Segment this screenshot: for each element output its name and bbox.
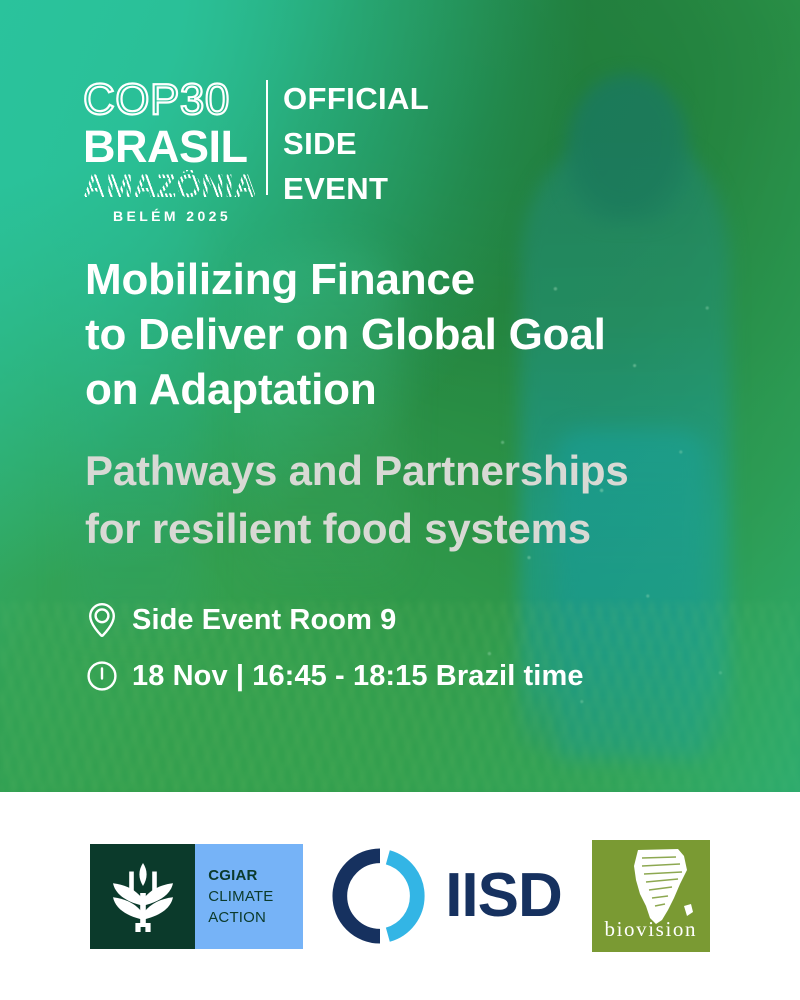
hero-image: COP30 BRASIL AMAZÔNIA BELÉM 2025 OFFICIA… xyxy=(0,0,800,792)
cop30-logo-line-amazonia: AMAZÔNIA xyxy=(83,170,255,203)
partner-logos: CGIAR CLIMATE ACTION IISD xyxy=(90,840,710,952)
event-subtitle-line-2: for resilient food systems xyxy=(85,500,745,558)
event-location-text: Side Event Room 9 xyxy=(132,604,396,637)
badge-line-event: EVENT xyxy=(283,166,429,211)
cgiar-word-line-2: CLIMATE xyxy=(208,886,303,907)
cop30-logo-line-belem: BELÉM 2025 xyxy=(83,208,255,224)
event-title: Mobilizing Finance to Deliver on Global … xyxy=(85,252,725,417)
event-subtitle-line-1: Pathways and Partnerships xyxy=(85,442,745,500)
partner-logo-bar: CGIAR CLIMATE ACTION IISD xyxy=(0,792,800,1000)
event-details: Side Event Room 9 18 Nov | 16:45 - 18:15… xyxy=(85,596,584,708)
event-title-line-1: Mobilizing Finance xyxy=(85,252,725,307)
map-pin-icon xyxy=(85,601,119,639)
cop30-logo-line-brasil: BRASIL xyxy=(83,124,255,169)
event-time-row: 18 Nov | 16:45 - 18:15 Brazil time xyxy=(85,652,584,700)
wheat-emblem-icon xyxy=(107,857,179,935)
cgiar-wordmark: CGIAR CLIMATE ACTION xyxy=(195,844,303,949)
cop30-logo-line-cop30: COP30 xyxy=(83,78,255,122)
header-divider xyxy=(266,80,268,195)
badge-line-official: OFFICIAL xyxy=(283,76,429,121)
biovision-logo: biovision xyxy=(592,840,710,952)
event-location-row: Side Event Room 9 xyxy=(85,596,584,644)
badge-line-side: SIDE xyxy=(283,121,429,166)
event-title-line-3: on Adaptation xyxy=(85,362,725,417)
iisd-wordmark: IISD xyxy=(445,865,562,927)
official-side-event-badge: OFFICIAL SIDE EVENT xyxy=(283,76,429,211)
event-poster: COP30 BRASIL AMAZÔNIA BELÉM 2025 OFFICIA… xyxy=(0,0,800,1000)
cgiar-word-line-1: CGIAR xyxy=(208,865,303,886)
clock-icon xyxy=(85,657,119,695)
iisd-ring-icon xyxy=(331,847,429,945)
iisd-logo: IISD xyxy=(331,847,562,945)
cgiar-logo-mark xyxy=(90,844,195,949)
event-subtitle: Pathways and Partnerships for resilient … xyxy=(85,442,745,558)
biovision-wordmark: biovision xyxy=(592,917,710,942)
cop30-logo: COP30 BRASIL AMAZÔNIA BELÉM 2025 xyxy=(83,78,255,224)
cgiar-word-line-3: ACTION xyxy=(208,907,303,928)
event-title-line-2: to Deliver on Global Goal xyxy=(85,307,725,362)
event-time-text: 18 Nov | 16:45 - 18:15 Brazil time xyxy=(132,660,584,693)
